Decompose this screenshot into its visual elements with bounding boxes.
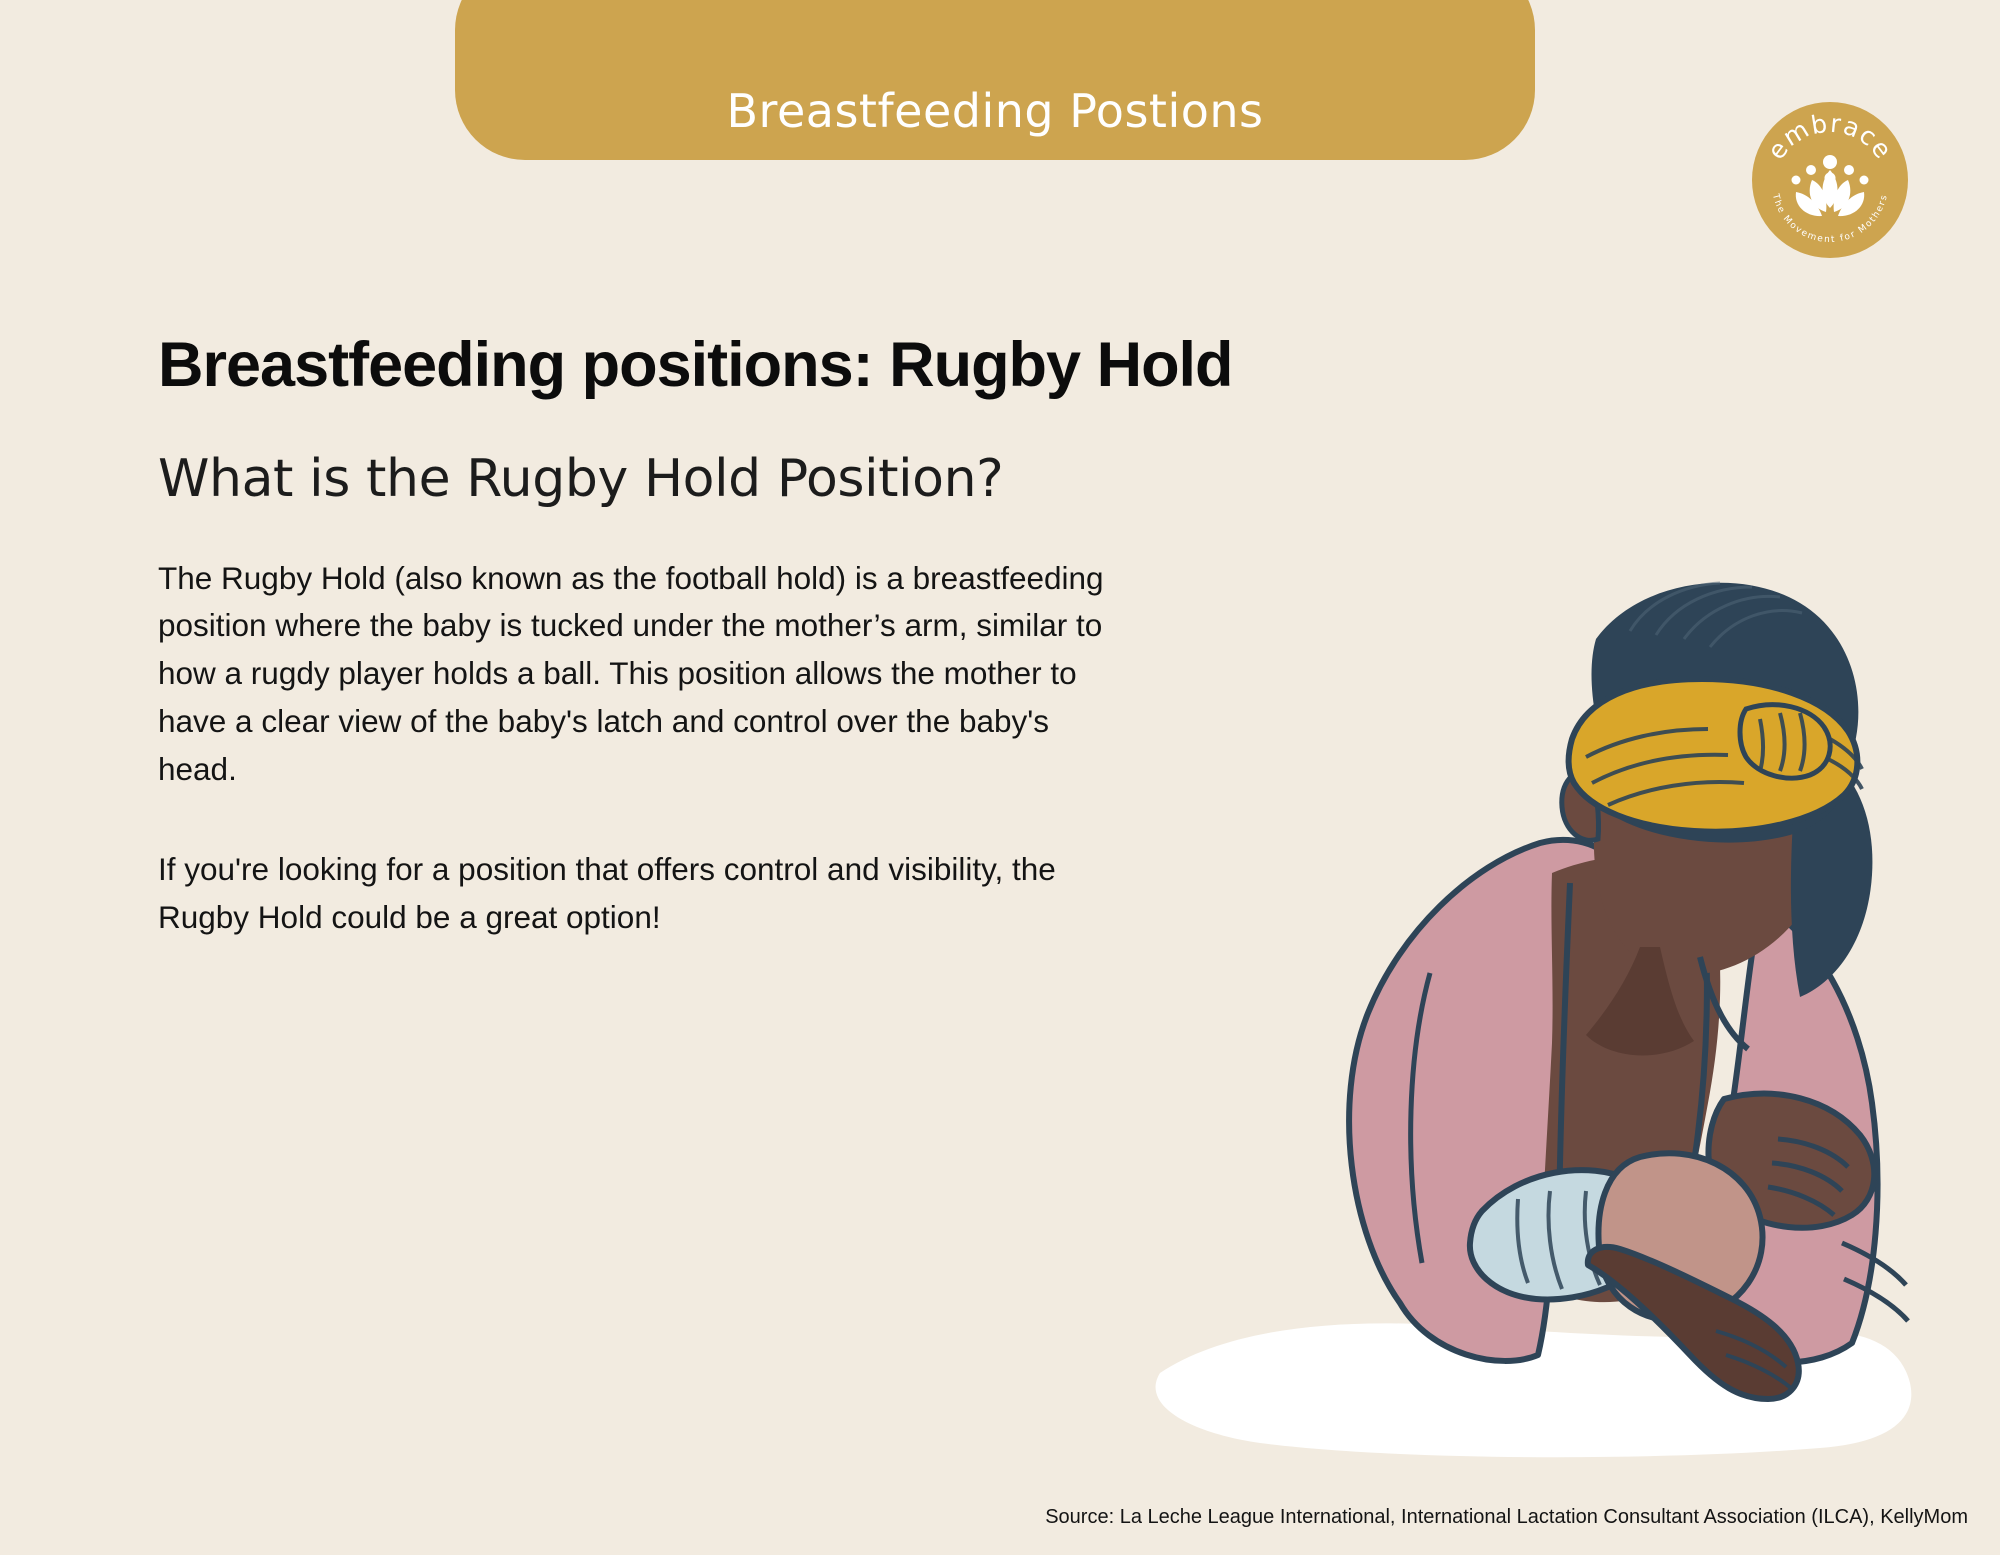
header-banner: Breastfeeding Postions — [455, 0, 1535, 160]
illustration-torso — [1540, 855, 1720, 1302]
illustration-seat — [1156, 1323, 1912, 1457]
illustration-mother-arm — [1708, 1094, 1874, 1228]
body-paragraph-1: The Rugby Hold (also known as the footba… — [158, 555, 1118, 794]
illustration-hair — [1580, 583, 1872, 997]
section-subheading: What is the Rugby Hold Position? — [158, 449, 1168, 509]
illustration-headwrap — [1569, 679, 1863, 832]
main-content: Breastfeeding positions: Rugby Hold What… — [158, 330, 1168, 942]
page-title: Breastfeeding positions: Rugby Hold — [158, 330, 1168, 401]
illustration-svg — [1100, 543, 1980, 1503]
illustration-baby — [1470, 1153, 1799, 1399]
illustration-robe — [1349, 840, 1908, 1363]
illustration-head — [1562, 684, 1836, 1056]
mother-breastfeeding-rugby-hold-illustration — [1100, 543, 1980, 1503]
body-paragraph-2: If you're looking for a position that of… — [158, 846, 1118, 942]
embrace-logo-icon: embrace The Movement for Mothers — [1750, 100, 1910, 260]
banner-title: Breastfeeding Postions — [727, 84, 1264, 138]
embrace-logo: embrace The Movement for Mothers — [1750, 100, 1910, 260]
source-citation: Source: La Leche League International, I… — [1045, 1506, 1968, 1529]
